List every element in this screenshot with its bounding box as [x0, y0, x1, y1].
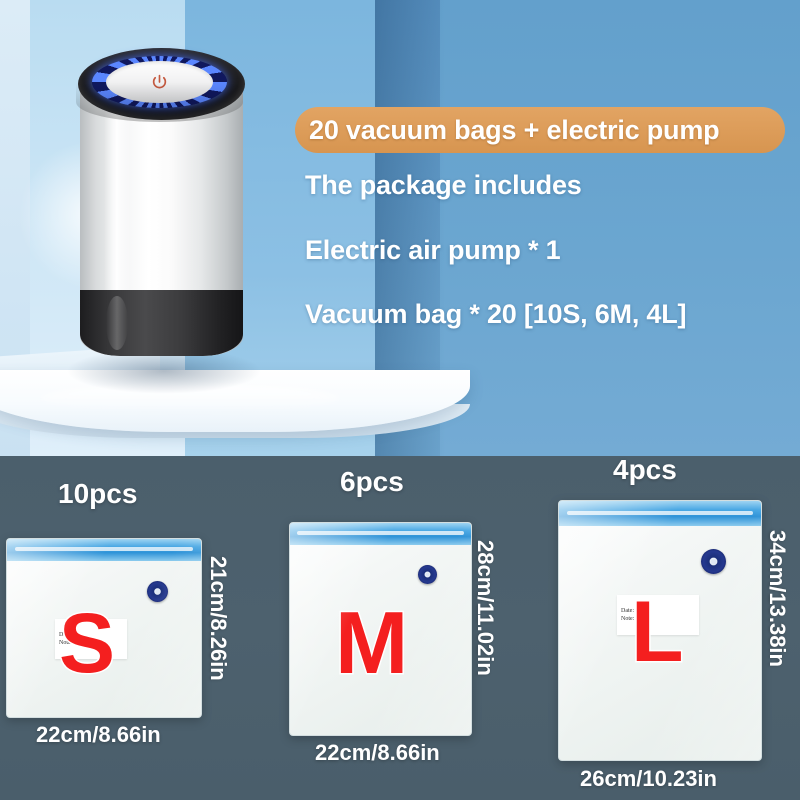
bag-size-letter-s: S — [59, 601, 115, 685]
bag-sizes-section: 10pcs Date: Note: S 21cm/8.26in 22cm/8.6… — [0, 456, 800, 800]
bag-size-letter-m: M — [335, 599, 408, 687]
bag-zipper-m — [290, 523, 471, 545]
bag-vacuum-valve-s — [147, 581, 168, 602]
wall-panel-5 — [440, 0, 800, 456]
vacuum-bag-l: Date: Note: L — [558, 500, 762, 761]
pump-base-highlight — [106, 296, 128, 350]
bag-width-dimension-l: 26cm/10.23in — [580, 766, 717, 792]
bag-height-dimension-s: 21cm/8.26in — [205, 556, 231, 681]
bag-width-dimension-m: 22cm/8.66in — [315, 740, 440, 766]
bag-height-dimension-l: 34cm/13.38in — [764, 530, 790, 667]
bag-vacuum-valve-m — [418, 565, 437, 584]
package-line-1: The package includes — [305, 170, 582, 201]
electric-air-pump — [80, 48, 243, 396]
bag-height-dimension-m: 28cm/11.02in — [472, 540, 498, 676]
hero-scene: 20 vacuum bags + electric pump The packa… — [0, 0, 800, 456]
bag-quantity-l: 4pcs — [613, 454, 677, 486]
bag-size-letter-l: L — [631, 589, 684, 675]
pump-top-ring — [78, 48, 245, 120]
bag-zipper-l — [559, 501, 761, 526]
bag-vacuum-valve-l — [701, 549, 726, 574]
bag-zipper-s — [7, 539, 201, 561]
pump-top-shading — [76, 82, 243, 122]
headline-badge: 20 vacuum bags + electric pump — [295, 107, 785, 153]
package-line-3: Vacuum bag * 20 [10S, 6M, 4L] — [305, 299, 686, 330]
headline-badge-label: 20 vacuum bags + electric pump — [295, 115, 719, 146]
vacuum-bag-s: Date: Note: S — [6, 538, 202, 718]
vacuum-bag-m: M — [289, 522, 472, 736]
bag-width-dimension-s: 22cm/8.66in — [36, 722, 161, 748]
package-line-2: Electric air pump * 1 — [305, 235, 560, 266]
bag-quantity-s: 10pcs — [58, 478, 137, 510]
pump-base — [80, 290, 243, 356]
bag-quantity-m: 6pcs — [340, 466, 404, 498]
product-infographic: 20 vacuum bags + electric pump The packa… — [0, 0, 800, 800]
